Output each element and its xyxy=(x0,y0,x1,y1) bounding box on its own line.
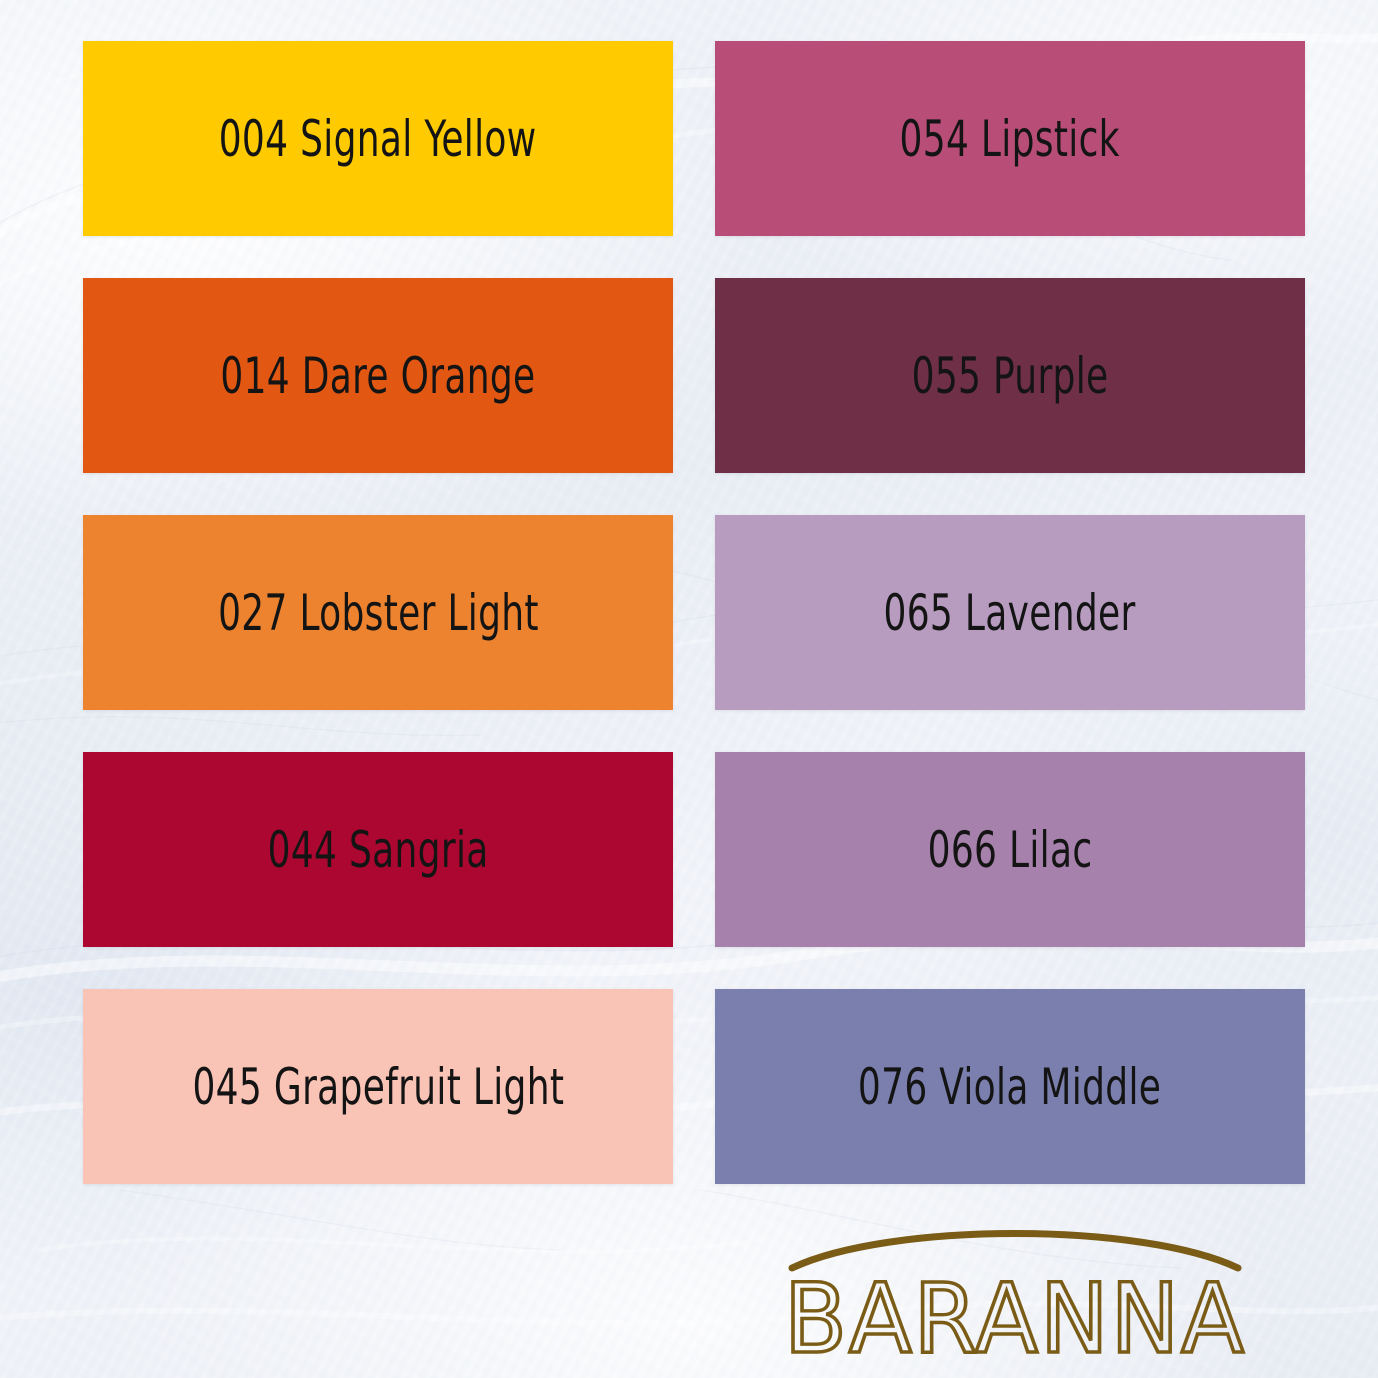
color-swatch-076-viola-middle[interactable]: 076 Viola Middle xyxy=(715,989,1305,1184)
color-swatch-004-signal-yellow[interactable]: 004 Signal Yellow xyxy=(83,41,673,236)
swatch-label: 076 Viola Middle xyxy=(858,1062,1161,1112)
color-swatch-044-sangria[interactable]: 044 Sangria xyxy=(83,752,673,947)
swatch-label: 044 Sangria xyxy=(267,825,488,875)
color-swatch-014-dare-orange[interactable]: 014 Dare Orange xyxy=(83,278,673,473)
color-swatch-055-purple[interactable]: 055 Purple xyxy=(715,278,1305,473)
color-swatch-065-lavender[interactable]: 065 Lavender xyxy=(715,515,1305,710)
swatch-label: 066 Lilac xyxy=(928,825,1093,875)
swatch-label: 027 Lobster Light xyxy=(218,588,539,638)
color-swatch-066-lilac[interactable]: 066 Lilac xyxy=(715,752,1305,947)
swatch-label: 054 Lipstick xyxy=(900,114,1120,164)
swatch-label: 045 Grapefruit Light xyxy=(192,1062,564,1112)
color-palette-page: 004 Signal Yellow 054 Lipstick 014 Dare … xyxy=(0,0,1378,1378)
brand-wordmark: BARANNA xyxy=(784,1263,1246,1363)
swatch-label: 014 Dare Orange xyxy=(220,351,535,401)
swatch-label: 004 Signal Yellow xyxy=(219,114,537,164)
color-swatch-045-grapefruit-light[interactable]: 045 Grapefruit Light xyxy=(83,989,673,1184)
color-swatch-grid: 004 Signal Yellow 054 Lipstick 014 Dare … xyxy=(83,41,1305,1185)
swatch-label: 065 Lavender xyxy=(884,588,1136,638)
color-swatch-027-lobster-light[interactable]: 027 Lobster Light xyxy=(83,515,673,710)
brand-logo: BARANNA xyxy=(770,1228,1260,1363)
swatch-label: 055 Purple xyxy=(912,351,1109,401)
color-swatch-054-lipstick[interactable]: 054 Lipstick xyxy=(715,41,1305,236)
